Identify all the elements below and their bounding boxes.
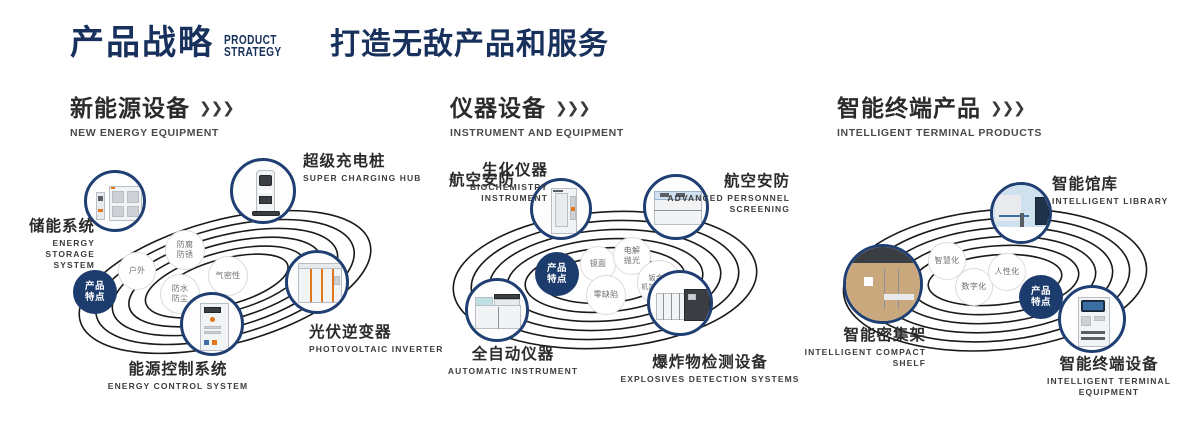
label-pv-inverter-en: PHOTOVOLTAIC INVERTER	[309, 344, 444, 355]
chevron-right-icon: ❯❯❯	[990, 101, 1025, 116]
label-biochem-en1: BIOCHEMISTRY	[430, 182, 548, 193]
explosives-image	[650, 273, 710, 333]
node-library[interactable]	[990, 182, 1052, 244]
label-pv-inverter-cn: 光伏逆变器	[309, 325, 444, 341]
section-title-instrument: 仪器设备 ❯❯❯ INSTRUMENT AND EQUIPMENT	[450, 97, 624, 139]
section-title-instrument-label: 仪器设备	[450, 97, 546, 120]
label-biochem: 生化仪器 BIOCHEMISTRY INSTRUMENT	[430, 163, 548, 204]
label-compact-shelf-en2: SHELF	[800, 358, 926, 369]
section-subtitle-intelligent: INTELLIGENT TERMINAL PRODUCTS	[837, 127, 1042, 139]
label-biochem-en2: INSTRUMENT	[430, 193, 548, 204]
section-title-intelligent: 智能终端产品 ❯❯❯ INTELLIGENT TERMINAL PRODUCTS	[837, 97, 1042, 139]
label-automatic-cn: 全自动仪器	[428, 347, 598, 363]
chevron-right-icon: ❯❯❯	[199, 101, 234, 116]
page-title-english-line2: STRATEGY	[224, 46, 282, 58]
feature-bubble-1-line1: 数字化	[962, 282, 987, 292]
label-terminal-en: INTELLIGENT TERMINAL EQUIPMENT	[1020, 376, 1198, 397]
label-library-en: INTELLIGENT LIBRARY	[1052, 196, 1168, 207]
section-title-intelligent-label: 智能终端产品	[837, 97, 981, 120]
label-terminal-cn: 智能终端设备	[1020, 357, 1198, 373]
node-terminal[interactable]	[1058, 285, 1126, 353]
section-subtitle-new-energy: NEW ENERGY EQUIPMENT	[70, 127, 234, 139]
label-terminal: 智能终端设备 INTELLIGENT TERMINAL EQUIPMENT	[1020, 357, 1198, 398]
core-bubble-line1: 产品	[85, 281, 105, 292]
label-screening-en1: ADVANCED PERSONNEL	[665, 193, 790, 204]
label-energy-control-en: ENERGY CONTROL SYSTEM	[83, 381, 273, 392]
chevron-right-icon: ❯❯❯	[555, 101, 590, 116]
feature-bubble-2-line1: 零缺陷	[594, 290, 619, 300]
node-charging-hub[interactable]	[230, 158, 296, 224]
label-screening-cn: 航空安防	[665, 174, 790, 190]
feature-bubble-0-line1: 户外	[129, 266, 146, 276]
compact-shelf-image	[846, 247, 920, 321]
core-bubble-instrument: 产品 特点	[535, 252, 579, 296]
feature-bubble-0-line1: 智慧化	[935, 256, 960, 266]
energy-control-image	[183, 295, 241, 353]
poster-canvas: 产品战略 PRODUCT STRATEGY 打造无敌产品和服务 新能源设备 ❯❯…	[0, 0, 1200, 422]
label-biochem-cn: 生化仪器	[430, 163, 548, 179]
feature-bubble-1-line2: 抛光	[624, 256, 641, 265]
page-subtitle: 打造无敌产品和服务	[330, 30, 609, 60]
label-charging-hub-cn: 超级充电桩	[303, 154, 422, 170]
feature-bubble-1-line1: 电解	[624, 246, 641, 255]
node-explosives[interactable]	[647, 270, 713, 336]
core-bubble-intelligent: 产品 特点	[1019, 275, 1063, 319]
label-explosives-cn: 爆炸物检测设备	[615, 355, 805, 371]
label-automatic-en: AUTOMATIC INSTRUMENT	[428, 366, 598, 377]
label-explosives: 爆炸物检测设备 EXPLOSIVES DETECTION SYSTEMS	[615, 355, 805, 385]
label-pv-inverter: 光伏逆变器 PHOTOVOLTAIC INVERTER	[309, 325, 444, 355]
feature-bubble-2-line1: 人性化	[995, 267, 1020, 277]
label-energy-storage-cn: 储能系统	[0, 219, 95, 235]
node-pv-inverter[interactable]	[285, 250, 349, 314]
node-automatic[interactable]	[465, 278, 529, 342]
node-energy-control[interactable]	[180, 292, 244, 356]
label-automatic: 全自动仪器 AUTOMATIC INSTRUMENT	[428, 347, 598, 377]
label-compact-shelf-cn: 智能密集架	[800, 328, 926, 344]
label-charging-hub: 超级充电桩 SUPER CHARGING HUB	[303, 154, 422, 184]
feature-bubble-1-line2: 防锈	[177, 250, 194, 259]
node-compact-shelf[interactable]	[843, 244, 923, 324]
feature-bubble-3: 气密性	[208, 256, 248, 296]
section-title-new-energy-label: 新能源设备	[70, 97, 190, 120]
section-subtitle-instrument: INSTRUMENT AND EQUIPMENT	[450, 127, 624, 139]
feature-bubble-3-line1: 气密性	[216, 271, 241, 281]
page-title: 产品战略	[70, 26, 214, 60]
label-charging-hub-en: SUPER CHARGING HUB	[303, 173, 422, 184]
label-screening-en2: SCREENING	[665, 204, 790, 215]
label-compact-shelf-en1: INTELLIGENT COMPACT	[800, 347, 926, 358]
label-screening: 航空安防 ADVANCED PERSONNEL SCREENING	[665, 174, 790, 215]
energy-storage-image	[87, 173, 143, 229]
label-energy-storage-en2: SYSTEM	[0, 260, 95, 271]
feature-bubble-2: 人性化	[988, 253, 1026, 291]
automatic-image	[468, 281, 526, 339]
library-image	[993, 185, 1049, 241]
core-bubble-line2: 特点	[547, 274, 567, 285]
core-bubble-line1: 产品	[547, 263, 567, 274]
poster-header: 产品战略 PRODUCT STRATEGY	[70, 26, 298, 60]
feature-bubble-2: 零缺陷	[586, 275, 626, 315]
label-library-cn: 智能馆库	[1052, 177, 1168, 193]
charging-hub-image	[233, 161, 293, 221]
label-explosives-en: EXPLOSIVES DETECTION SYSTEMS	[615, 374, 805, 385]
feature-bubble-0: 户外	[118, 252, 156, 290]
feature-bubble-2-line1: 防水	[172, 284, 189, 293]
feature-bubble-1: 防腐 防锈	[165, 230, 205, 270]
section-title-new-energy: 新能源设备 ❯❯❯ NEW ENERGY EQUIPMENT	[70, 97, 234, 139]
pv-inverter-image	[288, 253, 346, 311]
label-compact-shelf: 智能密集架 INTELLIGENT COMPACT SHELF	[800, 328, 926, 369]
core-bubble-new-energy: 产品 特点	[73, 270, 117, 314]
terminal-image	[1061, 288, 1123, 350]
core-bubble-line2: 特点	[1031, 297, 1051, 308]
feature-bubble-0-line1: 镜面	[590, 259, 607, 269]
label-energy-storage: 储能系统 ENERGY STORAGE SYSTEM	[0, 219, 95, 270]
label-energy-control-cn: 能源控制系统	[83, 362, 273, 378]
core-bubble-line1: 产品	[1031, 286, 1051, 297]
label-energy-control: 能源控制系统 ENERGY CONTROL SYSTEM	[83, 362, 273, 392]
core-bubble-line2: 特点	[85, 292, 105, 303]
feature-bubble-1-line1: 防腐	[177, 240, 194, 249]
page-title-english: PRODUCT STRATEGY	[224, 34, 282, 58]
label-library: 智能馆库 INTELLIGENT LIBRARY	[1052, 177, 1168, 207]
label-energy-storage-en1: ENERGY STORAGE	[0, 238, 95, 259]
